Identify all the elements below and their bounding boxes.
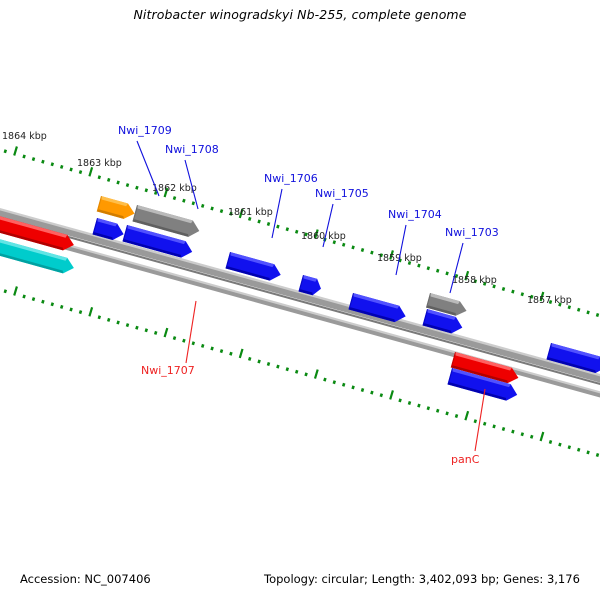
ruler-coordinate-label: 1858 kbp <box>452 275 497 286</box>
ruler-tick-minor <box>230 352 231 355</box>
gene-label-leader <box>186 301 196 363</box>
ruler-tick-minor <box>277 365 278 368</box>
ruler-tick-minor <box>249 357 250 360</box>
ruler-tick-major <box>465 411 468 420</box>
ruler-tick-minor <box>108 178 109 181</box>
ruler-tick-minor <box>221 210 222 213</box>
ruler-tick-minor <box>42 160 43 163</box>
ruler-tick-minor <box>296 370 297 373</box>
ruler-tick-minor <box>268 222 269 225</box>
ruler-tick-minor <box>381 394 382 397</box>
ruler-tick-minor <box>287 368 288 371</box>
ruler-tick-minor <box>71 308 72 311</box>
ruler-tick-minor <box>484 422 485 425</box>
ruler-tick-minor <box>343 383 344 386</box>
ruler-tick-minor <box>212 347 213 350</box>
ruler-tick-major <box>541 432 544 441</box>
ruler-tick-minor <box>174 197 175 200</box>
ruler-tick-major <box>165 328 168 337</box>
ruler-tick-minor <box>324 378 325 381</box>
ruler-tick-minor <box>183 199 184 202</box>
ruler-tick-minor <box>127 184 128 187</box>
ruler-tick-minor <box>400 399 401 402</box>
gene-label[interactable]: panC <box>451 453 480 466</box>
ruler-tick-minor <box>277 225 278 228</box>
ruler-tick-minor <box>42 300 43 303</box>
ruler-tick-minor <box>437 269 438 272</box>
ruler-tick-minor <box>174 337 175 340</box>
genome-map-canvas[interactable]: 1864 kbp1863 kbp1862 kbp1861 kbp1860 kbp… <box>0 0 600 600</box>
ruler-tick-minor <box>494 425 495 428</box>
ruler-tick-minor <box>428 407 429 410</box>
ruler-tick-minor <box>287 228 288 231</box>
ruler-tick-minor <box>155 331 156 334</box>
ruler-tick-minor <box>503 287 504 290</box>
gene-label[interactable]: Nwi_1703 <box>445 226 499 239</box>
ruler-tick-minor <box>146 329 147 332</box>
ruler-tick-minor <box>5 290 6 293</box>
ruler-tick-major <box>240 349 243 358</box>
gene-label[interactable]: Nwi_1704 <box>388 208 442 221</box>
gene-label[interactable]: Nwi_1705 <box>315 187 369 200</box>
ruler-tick-minor <box>353 246 354 249</box>
ruler-tick-minor <box>136 186 137 189</box>
gene-label-leader <box>137 141 159 196</box>
ruler-tick-minor <box>296 230 297 233</box>
ruler-tick-minor <box>202 344 203 347</box>
ruler-tick-minor <box>371 251 372 254</box>
ruler-tick-minor <box>71 168 72 171</box>
ruler-tick-minor <box>99 316 100 319</box>
ruler-tick-minor <box>447 272 448 275</box>
ruler-tick-minor <box>61 165 62 168</box>
ruler-tick-minor <box>578 308 579 311</box>
ruler-tick-minor <box>531 435 532 438</box>
gene-label[interactable]: Nwi_1706 <box>264 172 318 185</box>
ruler-coordinate-label: 1857 kbp <box>527 295 572 306</box>
ruler-tick-minor <box>108 318 109 321</box>
ruler-tick-minor <box>193 342 194 345</box>
ruler-coordinate-label: 1863 kbp <box>77 158 122 169</box>
ruler-tick-minor <box>193 202 194 205</box>
ruler-tick-minor <box>597 313 598 316</box>
ruler-tick-minor <box>588 311 589 314</box>
ruler-coordinate-label: 1860 kbp <box>301 231 346 242</box>
ruler-tick-minor <box>588 451 589 454</box>
gene-feature[interactable] <box>97 196 137 221</box>
ruler-tick-minor <box>212 207 213 210</box>
ruler-tick-major <box>89 307 92 316</box>
ruler-tick-major <box>390 390 393 399</box>
ruler-tick-minor <box>569 446 570 449</box>
ruler-tick-minor <box>569 306 570 309</box>
ruler-tick-minor <box>334 381 335 384</box>
ruler-tick-minor <box>437 409 438 412</box>
ruler-tick-minor <box>409 401 410 404</box>
ruler-tick-minor <box>127 324 128 327</box>
ruler-tick-minor <box>418 404 419 407</box>
accession-text: Accession: NC_007406 <box>20 572 151 586</box>
ruler-tick-minor <box>146 189 147 192</box>
ruler-tick-minor <box>24 155 25 158</box>
ruler-tick-minor <box>80 171 81 174</box>
ruler-tick-minor <box>136 326 137 329</box>
ruler-coordinate-label: 1864 kbp <box>2 131 47 142</box>
gene-label[interactable]: Nwi_1709 <box>118 124 172 137</box>
ruler-tick-minor <box>268 362 269 365</box>
ruler-tick-minor <box>475 420 476 423</box>
ruler-coordinate-label: 1861 kbp <box>228 207 273 218</box>
ruler-tick-minor <box>202 204 203 207</box>
ruler-tick-minor <box>447 412 448 415</box>
ruler-tick-minor <box>522 433 523 436</box>
ruler-tick-minor <box>5 150 6 153</box>
genome-map-viewer: Nitrobacter winogradskyi Nb-255, complet… <box>0 0 600 600</box>
ruler-tick-minor <box>221 350 222 353</box>
ruler-coordinate-label: 1862 kbp <box>152 183 197 194</box>
gene-label-leader <box>396 225 406 275</box>
ruler-tick-minor <box>52 303 53 306</box>
ruler-tick-minor <box>52 163 53 166</box>
ruler-tick-minor <box>61 305 62 308</box>
ruler-tick-minor <box>597 453 598 456</box>
ruler-tick-minor <box>353 386 354 389</box>
ruler-tick-minor <box>578 448 579 451</box>
ruler-tick-minor <box>33 298 34 301</box>
ruler-tick-minor <box>503 427 504 430</box>
ruler-tick-minor <box>306 373 307 376</box>
gene-label[interactable]: Nwi_1708 <box>165 143 219 156</box>
ruler-tick-major <box>14 287 17 296</box>
ruler-tick-minor <box>343 243 344 246</box>
ruler-tick-minor <box>550 440 551 443</box>
ruler-tick-minor <box>183 339 184 342</box>
ruler-tick-minor <box>418 264 419 267</box>
ruler-tick-minor <box>456 414 457 417</box>
ruler-tick-minor <box>33 158 34 161</box>
ruler-tick-minor <box>362 388 363 391</box>
ruler-tick-minor <box>118 321 119 324</box>
gene-label[interactable]: Nwi_1707 <box>141 364 195 377</box>
ruler-tick-minor <box>559 443 560 446</box>
ruler-tick-minor <box>80 311 81 314</box>
ruler-tick-minor <box>371 391 372 394</box>
ruler-tick-minor <box>362 248 363 251</box>
ruler-tick-minor <box>512 290 513 293</box>
ruler-tick-minor <box>428 267 429 270</box>
ruler-tick-minor <box>118 181 119 184</box>
ruler-tick-minor <box>259 360 260 363</box>
ruler-tick-minor <box>24 295 25 298</box>
ruler-tick-major <box>315 370 318 379</box>
ruler-tick-minor <box>259 220 260 223</box>
ruler-tick-minor <box>99 176 100 179</box>
genome-summary-text: Topology: circular; Length: 3,402,093 bp… <box>264 572 580 586</box>
gene-label-leader <box>272 189 282 238</box>
ruler-tick-major <box>14 147 17 156</box>
ruler-tick-minor <box>522 293 523 296</box>
ruler-tick-minor <box>512 430 513 433</box>
